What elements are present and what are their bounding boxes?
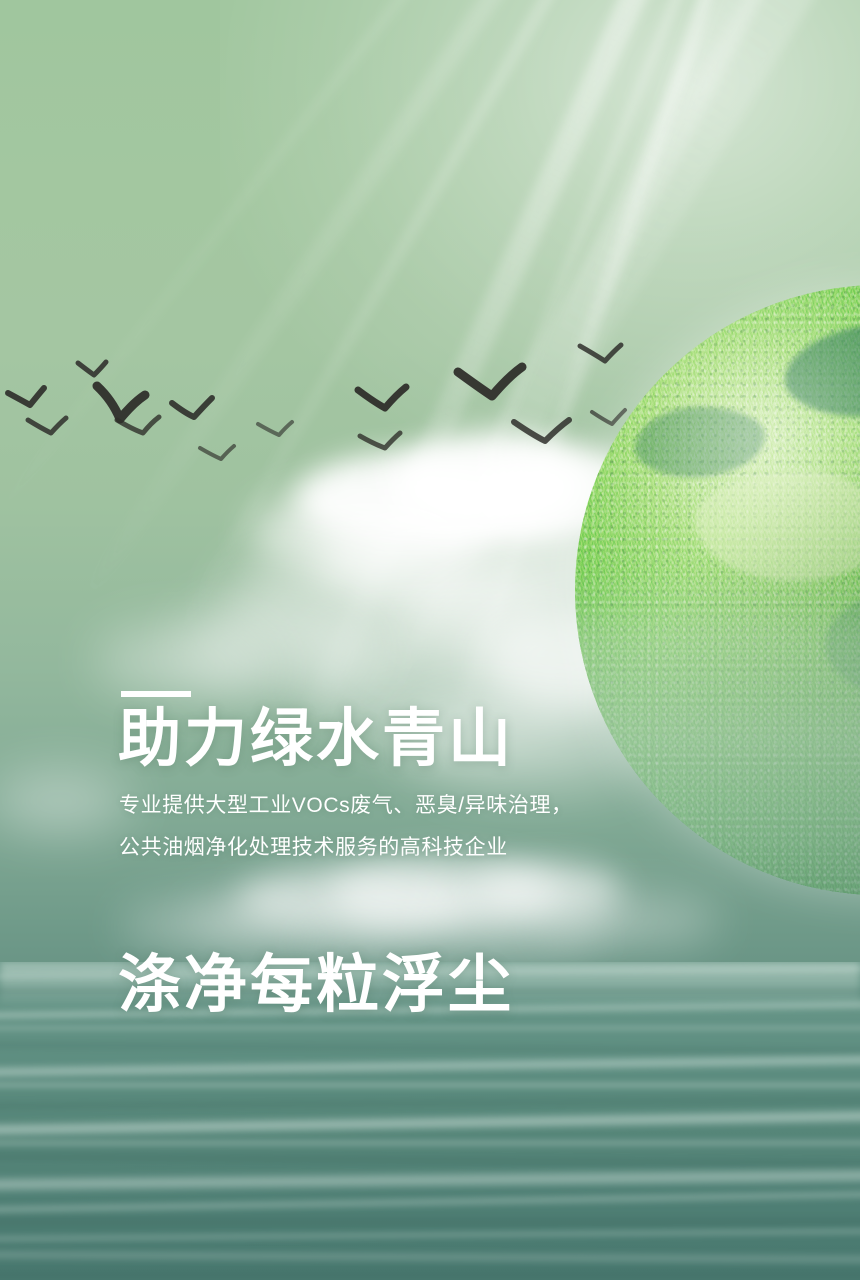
subtitle-text: 专业提供大型工业VOCs废气、恶臭/异味治理， 公共油烟净化处理技术服务的高科技… — [119, 785, 573, 869]
divider-rule — [121, 691, 191, 697]
headline-line-1: 助力绿水青山 — [118, 698, 514, 780]
subtitle-line-1: 专业提供大型工业VOCs废气、恶臭/异味治理， — [119, 785, 573, 827]
eco-promo-poster: 助力绿水青山 涤净每粒浮尘 专业提供大型工业VOCs废气、恶臭/异味治理， 公共… — [0, 0, 860, 1280]
subtitle-line-2: 公共油烟净化处理技术服务的高科技企业 — [119, 827, 573, 869]
headline-line-2: 涤净每粒浮尘 — [118, 944, 514, 1026]
poster-content: 助力绿水青山 涤净每粒浮尘 专业提供大型工业VOCs废气、恶臭/异味治理， 公共… — [0, 0, 860, 1280]
